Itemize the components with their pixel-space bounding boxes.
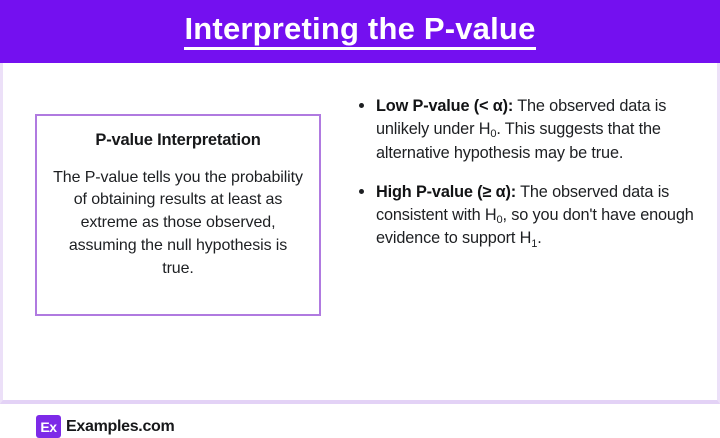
slide-root: Interpreting the P-value P-value Interpr… <box>0 0 720 404</box>
slide-body: P-value Interpretation The P-value tells… <box>3 63 717 400</box>
bullet-subscript-2: 1 <box>531 238 537 250</box>
definition-box: P-value Interpretation The P-value tells… <box>35 114 321 316</box>
bullet-dot-icon <box>359 103 364 108</box>
slide-header: Interpreting the P-value <box>0 0 720 63</box>
definition-box-title: P-value Interpretation <box>95 130 260 151</box>
bullet-lead-label: Low P-value (< α): <box>376 97 513 115</box>
bullet-dot-icon <box>359 189 364 194</box>
examples-logo-icon: Ex <box>36 415 61 438</box>
bullet-text-part-3: . <box>537 229 541 247</box>
bullet-subscript-1: 0 <box>497 214 503 226</box>
brand-name: Examples.com <box>66 418 174 436</box>
bullet-list: Low P-value (< α): The observed data is … <box>355 95 703 251</box>
brand-logo: Ex Examples.com <box>36 415 174 438</box>
page-title: Interpreting the P-value <box>184 13 535 51</box>
bullet-lead-label: High P-value (≥ α): <box>376 183 516 201</box>
definition-box-text: The P-value tells you the probability of… <box>51 167 305 281</box>
list-item: High P-value (≥ α): The observed data is… <box>355 181 703 251</box>
bullet-subscript-1: 0 <box>490 128 496 140</box>
list-item: Low P-value (< α): The observed data is … <box>355 95 703 165</box>
